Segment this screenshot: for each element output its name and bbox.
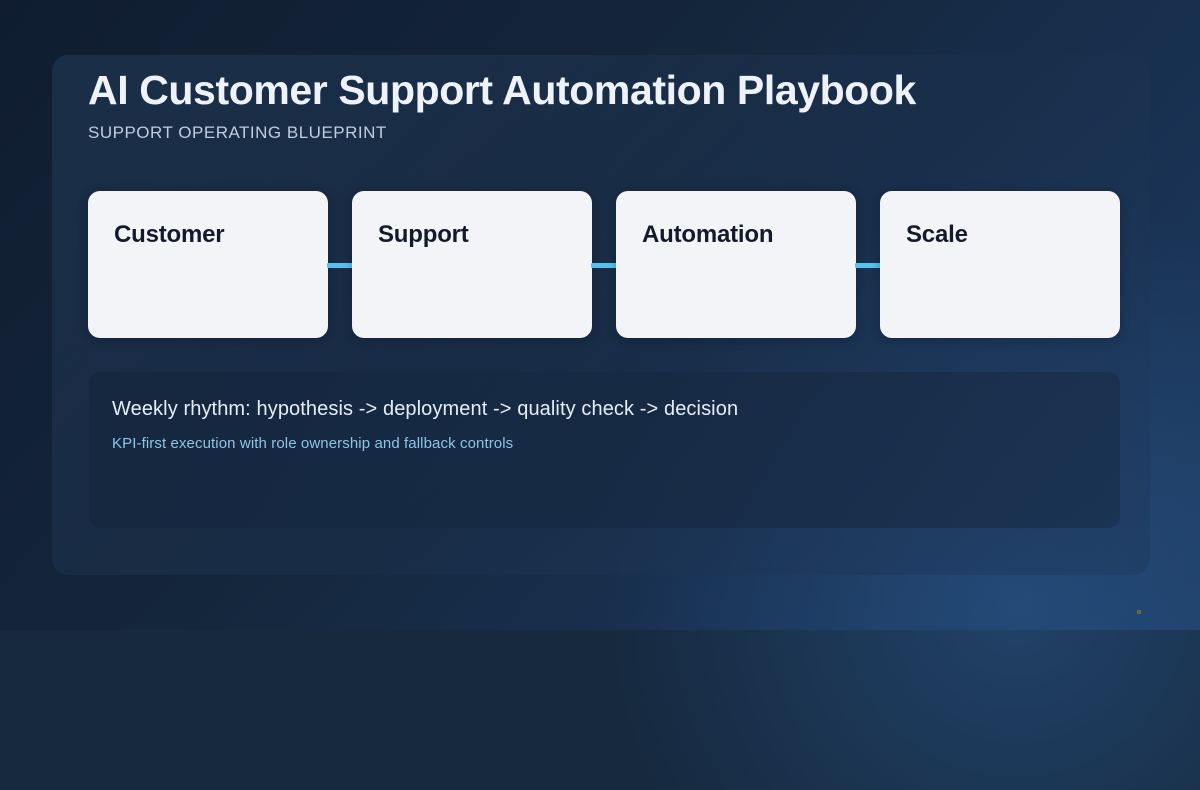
flow-step-label: Scale [906, 221, 1120, 249]
flow-connector-1 [328, 191, 352, 338]
flow-step-label: Support [378, 221, 592, 249]
flow-step-label: Automation [642, 221, 856, 249]
flow-connector-3 [856, 191, 880, 338]
summary-caption: KPI-first execution with role ownership … [112, 435, 1120, 452]
corner-marker-dot [1137, 610, 1141, 614]
flow-connector-2 [592, 191, 616, 338]
flow-step-customer[interactable]: Customer [88, 191, 328, 338]
summary-headline: Weekly rhythm: hypothesis -> deployment … [112, 398, 1120, 421]
flow-step-support[interactable]: Support [352, 191, 592, 338]
flow-step-automation[interactable]: Automation [616, 191, 856, 338]
header: AI Customer Support Automation Playbook … [88, 68, 916, 143]
page-subtitle: SUPPORT OPERATING BLUEPRINT [88, 123, 916, 143]
flow-step-scale[interactable]: Scale [880, 191, 1120, 338]
flow-step-label: Customer [114, 221, 328, 249]
flow-diagram: Customer Support Automation Scale [88, 191, 1120, 338]
page-title: AI Customer Support Automation Playbook [88, 68, 916, 114]
summary-panel: Weekly rhythm: hypothesis -> deployment … [89, 372, 1120, 528]
